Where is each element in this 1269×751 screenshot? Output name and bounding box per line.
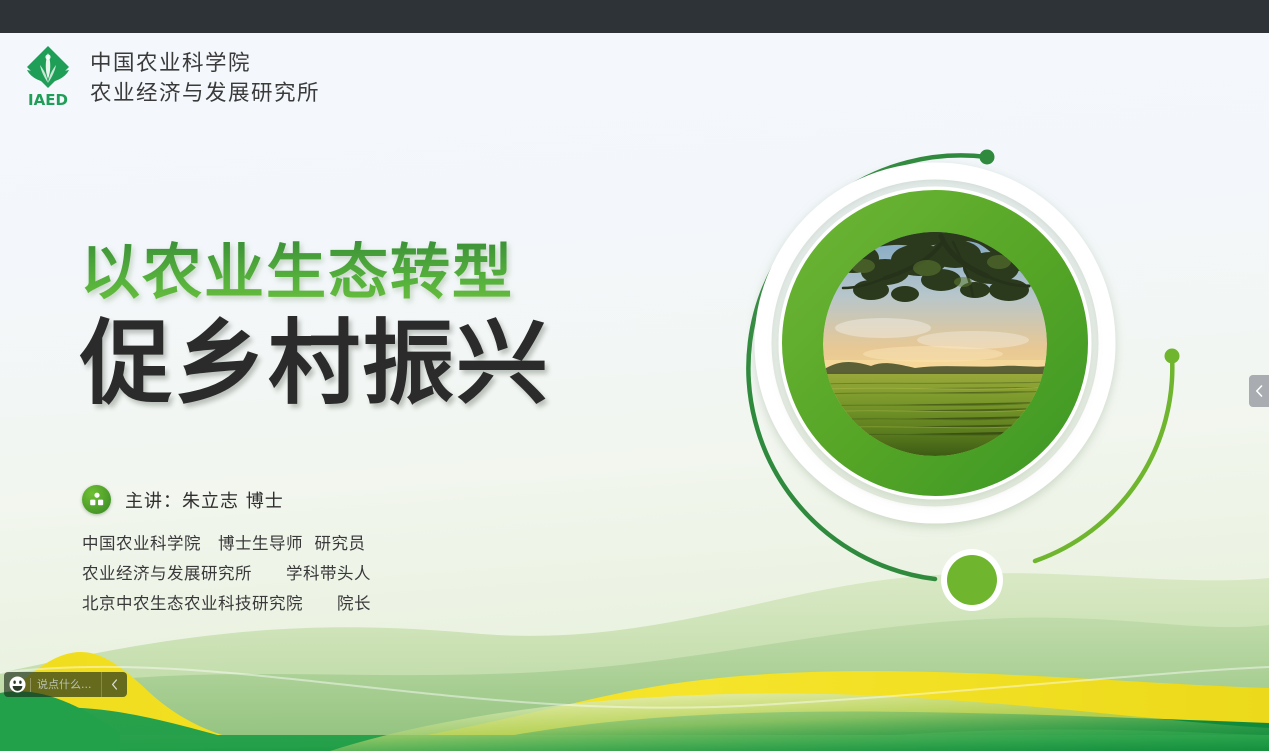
title-line-1: 以农业生态转型 [80, 238, 550, 308]
comment-bar [4, 672, 127, 697]
speaker-info: 主讲：朱立志 博士 中国农业科学院 博士生导师 研究员 农业经济与发展研究所 学… [82, 485, 371, 616]
browser-chrome-bar [0, 0, 1269, 33]
chevron-left-icon [111, 679, 118, 690]
iaed-logo-mark: IAED [24, 43, 72, 115]
comment-input[interactable] [31, 672, 101, 697]
slide-title: 以农业生态转型 促乡村振兴 [80, 238, 550, 416]
affiliation-line: 北京中农生态农业科技研究院 院长 [82, 592, 371, 616]
affiliation-line: 农业经济与发展研究所 学科带头人 [82, 562, 371, 586]
logo-line-1: 中国农业科学院 [90, 51, 320, 77]
player-window: IAED 中国农业科学院 农业经济与发展研究所 以农业生态转型 促乡村振兴 [0, 0, 1269, 751]
smiley-face-icon[interactable] [4, 672, 30, 697]
presentation-slide: IAED 中国农业科学院 农业经济与发展研究所 以农业生态转型 促乡村振兴 [0, 33, 1269, 751]
iaed-logo-text: IAED [28, 91, 68, 109]
logo-line-2: 农业经济与发展研究所 [90, 81, 320, 107]
affiliation-line: 中国农业科学院 博士生导师 研究员 [82, 532, 371, 556]
circular-field-photo-emblem [735, 143, 1195, 613]
title-line-2: 促乡村振兴 [80, 312, 550, 416]
speaker-name-label: 主讲：朱立志 博士 [125, 487, 284, 513]
accent-dot-circle [941, 549, 1003, 611]
side-panel-toggle[interactable] [1249, 375, 1269, 407]
speaker-affiliations: 中国农业科学院 博士生导师 研究员 农业经济与发展研究所 学科带头人 北京中农生… [82, 532, 371, 616]
institute-logo: IAED 中国农业科学院 农业经济与发展研究所 [24, 43, 320, 115]
organization-person-icon [82, 485, 111, 514]
field-sunset-photo [823, 232, 1047, 456]
comment-collapse-button[interactable] [101, 672, 127, 697]
chevron-left-icon [1255, 385, 1263, 397]
